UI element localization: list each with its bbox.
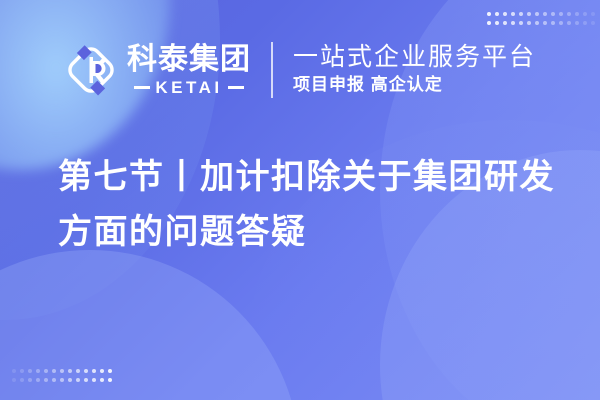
decor-dot — [591, 21, 595, 25]
decor-dot — [44, 369, 48, 373]
decor-dot — [84, 369, 88, 373]
decor-dot — [559, 12, 563, 16]
decor-dot — [60, 378, 64, 382]
decor-dot — [68, 369, 72, 373]
decor-dot — [503, 21, 507, 25]
headline-block: 第七节丨加计扣除关于集团研发 方面的问题答疑 — [58, 150, 558, 260]
decor-dot — [575, 21, 579, 25]
decor-dot — [543, 12, 547, 16]
decor-dot — [76, 369, 80, 373]
brand-logo: 科泰集团 KETAI — [64, 43, 251, 97]
wordmark-dash-left — [134, 86, 150, 89]
decor-dot — [20, 378, 24, 382]
decor-dot — [511, 21, 515, 25]
decor-dot — [44, 378, 48, 382]
brand-name-en: KETAI — [155, 79, 222, 96]
tagline-secondary: 项目申报 高企认定 — [293, 73, 536, 98]
decor-dot — [583, 21, 587, 25]
decor-dot — [92, 369, 96, 373]
decor-dot — [108, 378, 112, 382]
header-divider — [271, 42, 273, 98]
brand-name-cn: 科泰集团 — [127, 44, 251, 76]
decor-dot — [503, 12, 507, 16]
decor-dot — [60, 369, 64, 373]
decor-dot — [495, 21, 499, 25]
decor-dot — [551, 12, 555, 16]
brand-name-en-row: KETAI — [134, 79, 243, 96]
decor-dot-row — [12, 369, 112, 373]
wordmark-dash-right — [228, 86, 244, 89]
decor-dot — [12, 378, 16, 382]
decor-dot — [28, 378, 32, 382]
decor-dot — [487, 21, 491, 25]
headline-line-2: 方面的问题答疑 — [58, 205, 558, 260]
brand-wordmark: 科泰集团 KETAI — [127, 44, 251, 96]
decor-dot — [108, 369, 112, 373]
decor-dot — [487, 12, 491, 16]
decor-dot — [84, 378, 88, 382]
decor-dot-row — [12, 378, 112, 382]
brand-tagline: 一站式企业服务平台 项目申报 高企认定 — [293, 42, 536, 97]
tagline-primary: 一站式企业服务平台 — [293, 42, 536, 73]
decor-dot — [36, 378, 40, 382]
decor-dot — [36, 369, 40, 373]
decor-dot — [567, 12, 571, 16]
headline-line-1: 第七节丨加计扣除关于集团研发 — [58, 150, 558, 205]
decor-dot — [559, 21, 563, 25]
decor-dot — [511, 12, 515, 16]
decor-dot — [519, 21, 523, 25]
decor-dot — [575, 12, 579, 16]
decor-dot-grid-bottom-left — [12, 369, 112, 382]
decor-dot — [535, 21, 539, 25]
decor-dot — [20, 369, 24, 373]
decor-dot — [519, 12, 523, 16]
decor-dot — [52, 378, 56, 382]
decor-dot — [76, 378, 80, 382]
decor-dot — [583, 12, 587, 16]
decor-dot — [92, 378, 96, 382]
decor-dot — [28, 369, 32, 373]
decor-dot-grid-top-right — [487, 12, 595, 25]
decor-dot — [495, 12, 499, 16]
decor-dot — [551, 21, 555, 25]
decor-dot — [535, 12, 539, 16]
decor-dot — [12, 369, 16, 373]
decor-dot — [52, 369, 56, 373]
decor-dot — [567, 21, 571, 25]
promo-banner: 科泰集团 KETAI 一站式企业服务平台 项目申报 高企认定 第七节丨加计扣除关… — [0, 0, 600, 400]
decor-dot — [543, 21, 547, 25]
decor-dot-row — [487, 12, 595, 16]
decor-dot — [527, 12, 531, 16]
banner-header: 科泰集团 KETAI 一站式企业服务平台 项目申报 高企认定 — [0, 42, 600, 98]
ketai-kp-diamond-logo-icon — [64, 43, 118, 97]
decor-dot — [527, 21, 531, 25]
decor-dot — [100, 378, 104, 382]
decor-dot — [591, 12, 595, 16]
decor-dot-row — [487, 21, 595, 25]
decor-dot — [100, 369, 104, 373]
decor-dot — [68, 378, 72, 382]
